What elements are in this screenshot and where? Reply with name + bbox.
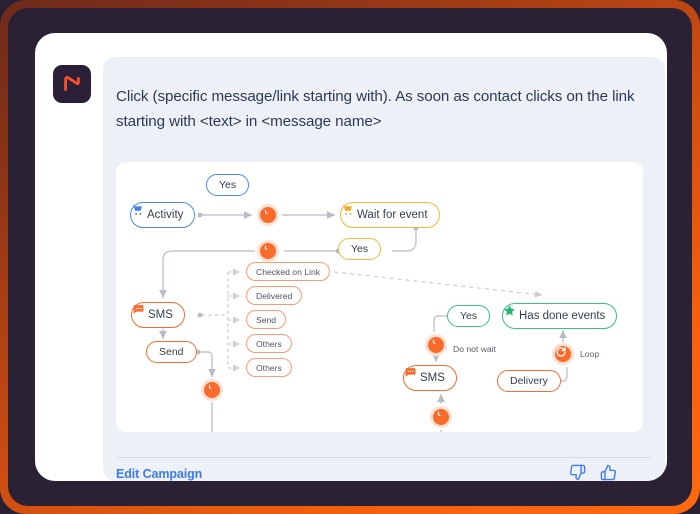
flow-node-has-done[interactable]: Has done events [502,303,617,329]
flow-label-loop: Loop [580,349,599,359]
assistant-message-panel: Click (specific message/link starting wi… [103,57,665,481]
flow-node-yes-green[interactable]: Yes [447,305,490,327]
flow-node-label: Delivered [256,291,292,301]
flow-badge-clock-1[interactable] [257,204,279,226]
edit-campaign-link[interactable]: Edit Campaign [116,467,202,481]
flow-node-label: Send [159,346,184,358]
flow-node-label: Activity [147,209,183,221]
flow-node-send-left[interactable]: Send [146,341,197,363]
flow-node-yes-amber[interactable]: Yes [338,238,381,260]
flow-node-label: Has done events [519,310,605,322]
outer-gradient-frame: Click (specific message/link starting wi… [0,0,700,514]
campaign-card: Click (specific message/link starting wi… [35,33,667,481]
flow-node-checked-link[interactable]: Checked on Link [246,262,330,281]
flow-node-delivered[interactable]: Delivered [246,286,302,305]
flow-node-label: SMS [148,309,173,321]
footer-divider [116,457,652,458]
flow-badge-clock-3[interactable] [201,379,223,401]
flow-label-do-not-wait: Do not wait [453,344,496,354]
thumbs-down-icon[interactable] [569,464,586,481]
flow-node-label: Yes [219,179,236,191]
flow-node-label: Yes [460,310,477,322]
flow-node-wait-for-event[interactable]: Wait for event [340,202,440,228]
flow-node-others-2[interactable]: Others [246,358,292,377]
flow-node-sms-right[interactable]: SMS [403,365,457,391]
campaign-flow-canvas[interactable]: YesActivityWait for eventYesChecked on L… [116,162,643,432]
brevo-logo-icon [61,73,83,95]
flow-badge-clock-2[interactable] [257,240,279,262]
flow-node-label: Delivery [510,375,548,387]
flow-node-label: Wait for event [357,209,428,221]
flow-badge-loop-1[interactable] [552,343,574,365]
flow-node-label: Checked on Link [256,267,320,277]
flow-node-label: SMS [420,372,445,384]
brevo-logo [53,65,91,103]
feedback-controls [569,464,617,481]
flow-node-label: Send [256,315,276,325]
flow-badge-clock-4[interactable] [425,334,447,356]
flow-badge-clock-5[interactable] [430,406,452,428]
message-text: Click (specific message/link starting wi… [116,85,648,134]
flow-node-send-branch[interactable]: Send [246,310,286,329]
flow-node-sms-left[interactable]: SMS [131,302,185,328]
flow-node-others-1[interactable]: Others [246,334,292,353]
flow-node-label: Others [256,363,282,373]
flow-node-activity[interactable]: Activity [130,202,195,228]
flow-node-label: Others [256,339,282,349]
flow-node-label: Yes [351,243,368,255]
flow-node-delivery[interactable]: Delivery [497,370,561,392]
thumbs-up-icon[interactable] [600,464,617,481]
flow-node-yes-top[interactable]: Yes [206,174,249,196]
